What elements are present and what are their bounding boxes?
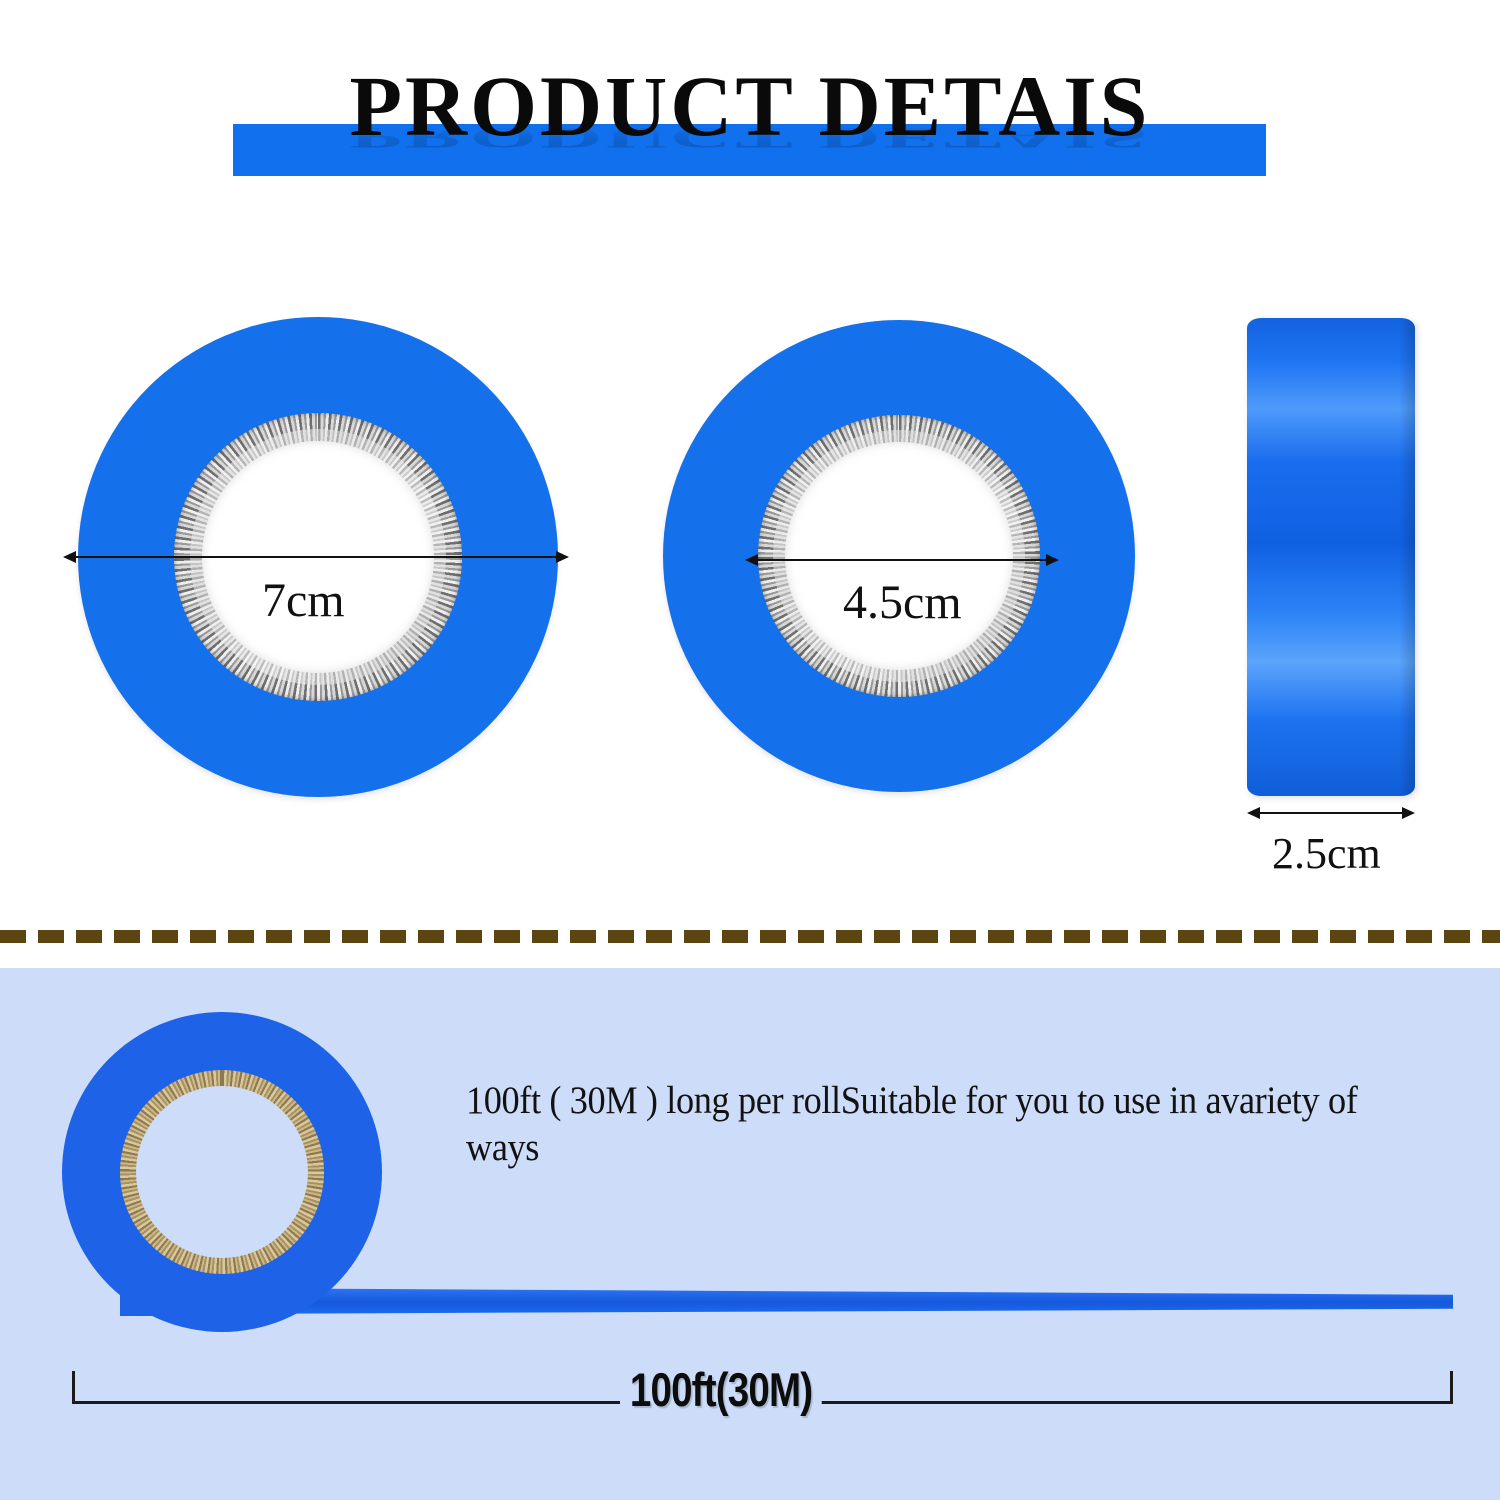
product-description-text: 100ft ( 30M ) long per rollSuitable for … bbox=[466, 1077, 1405, 1171]
length-label: 100ft(30M) bbox=[620, 1362, 822, 1417]
title-block: PRODUCT DETAIS PRODUCT DETAIS bbox=[0, 58, 1500, 188]
tape-roll-side-view bbox=[1247, 318, 1415, 796]
dimension-label-4-5cm: 4.5cm bbox=[843, 575, 962, 630]
dimension-line-7cm bbox=[76, 556, 556, 558]
page-title: PRODUCT DETAIS bbox=[0, 58, 1500, 154]
dimension-arrowhead-right-4-5cm bbox=[1046, 554, 1059, 566]
dimension-label-2-5cm: 2.5cm bbox=[1272, 828, 1381, 879]
tape-roll-inner-diameter bbox=[663, 320, 1135, 792]
dimension-arrowhead-right-7cm bbox=[556, 551, 569, 563]
tape-roll-core bbox=[785, 442, 1013, 670]
dimension-line-2-5cm bbox=[1260, 812, 1402, 814]
dimension-line-4-5cm bbox=[758, 559, 1046, 561]
tape-roll-bottom-core bbox=[136, 1086, 308, 1258]
bracket-tick-right bbox=[1450, 1371, 1453, 1404]
dimension-label-7cm: 7cm bbox=[262, 573, 345, 628]
dashed-divider bbox=[0, 930, 1500, 943]
tape-roll-side-edge bbox=[1399, 318, 1415, 796]
dimension-arrowhead-left-4-5cm bbox=[745, 554, 758, 566]
dimension-arrowhead-left-2-5cm bbox=[1247, 807, 1260, 819]
bracket-tick-left bbox=[72, 1371, 75, 1404]
tape-roll-bottom bbox=[62, 1012, 382, 1332]
dimension-arrowhead-right-2-5cm bbox=[1402, 807, 1415, 819]
top-section: PRODUCT DETAIS PRODUCT DETAIS 7cm 4.5cm … bbox=[0, 0, 1500, 930]
dimension-arrowhead-left-7cm bbox=[63, 551, 76, 563]
